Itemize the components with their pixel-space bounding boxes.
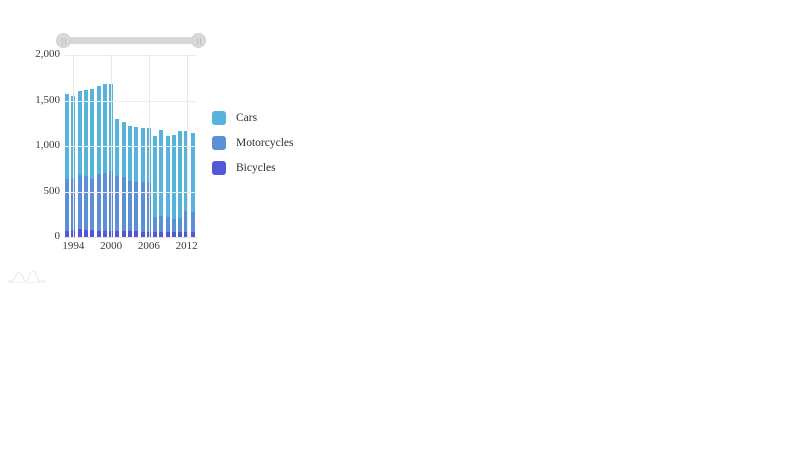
legend-item-cars[interactable]: Cars: [212, 111, 293, 125]
x-axis-tick-label: 2006: [138, 241, 160, 252]
bar-segment-motorcycles[interactable]: [178, 218, 182, 232]
bar-segment-motorcycles[interactable]: [166, 217, 170, 232]
chart-page: 05001,0001,5002,000 1994200020062012 Car…: [0, 0, 800, 450]
bar-segment-motorcycles[interactable]: [65, 179, 69, 231]
x-axis-tick-label: 1994: [62, 241, 84, 252]
y-axis-tick-label: 1,500: [2, 95, 60, 106]
gridline-horizontal: [64, 192, 196, 193]
x-axis-tick-label: 2012: [176, 241, 198, 252]
bar-segment-motorcycles[interactable]: [191, 212, 195, 232]
bar-segment-motorcycles[interactable]: [90, 179, 94, 230]
gridline-horizontal: [64, 55, 196, 56]
bar-segment-cars[interactable]: [103, 84, 107, 173]
legend-label: Motorcycles: [236, 137, 293, 150]
bar-segment-cars[interactable]: [166, 136, 170, 217]
bar-segment-motorcycles[interactable]: [103, 173, 107, 231]
bar-segment-motorcycles[interactable]: [78, 175, 82, 229]
legend-swatch-icon: [212, 111, 226, 125]
legend-label: Cars: [236, 112, 257, 125]
gridline-horizontal: [64, 101, 196, 102]
legend-swatch-icon: [212, 161, 226, 175]
legend-item-bicycles[interactable]: Bicycles: [212, 161, 293, 175]
gridline-vertical: [187, 55, 188, 237]
bar-segment-motorcycles[interactable]: [84, 176, 88, 230]
y-axis-tick-label: 500: [2, 186, 60, 197]
legend-label: Bicycles: [236, 162, 276, 175]
bar-segment-bicycles[interactable]: [90, 230, 94, 237]
gridline-vertical: [149, 55, 150, 237]
bar-segment-bicycles[interactable]: [78, 229, 82, 237]
legend-item-motorcycles[interactable]: Motorcycles: [212, 136, 293, 150]
y-axis-tick-label: 2,000: [2, 49, 60, 60]
x-axis-line: [64, 237, 197, 238]
y-axis-tick-label: 0: [2, 231, 60, 242]
bar-segment-motorcycles[interactable]: [122, 177, 126, 231]
y-axis-tick-label: 1,000: [2, 140, 60, 151]
bar-segment-cars[interactable]: [141, 128, 145, 182]
bar-segment-cars[interactable]: [128, 126, 132, 181]
bar-segment-bicycles[interactable]: [84, 230, 88, 237]
bar-segment-cars[interactable]: [78, 91, 82, 175]
bar-segment-motorcycles[interactable]: [159, 216, 163, 232]
bar-segment-cars[interactable]: [134, 127, 138, 181]
bar-segment-cars[interactable]: [65, 94, 69, 179]
bar-segment-cars[interactable]: [97, 86, 101, 174]
x-axis-tick-label: 2000: [100, 241, 122, 252]
legend-swatch-icon: [212, 136, 226, 150]
bar-segment-motorcycles[interactable]: [115, 176, 119, 231]
bar-segment-cars[interactable]: [90, 89, 94, 179]
bar-segment-cars[interactable]: [84, 90, 88, 176]
bar-segment-motorcycles[interactable]: [97, 174, 101, 231]
bar-segment-cars[interactable]: [172, 135, 176, 219]
bar-segment-cars[interactable]: [159, 130, 163, 216]
gridline-vertical: [73, 55, 74, 237]
gridline-vertical: [111, 55, 112, 237]
y-axis-labels: 05001,0001,5002,000: [0, 0, 60, 265]
bar-segment-motorcycles[interactable]: [134, 182, 138, 232]
bar-segment-motorcycles[interactable]: [141, 182, 145, 232]
bar-segment-cars[interactable]: [122, 122, 126, 177]
bar-segment-cars[interactable]: [178, 131, 182, 218]
bar-segment-cars[interactable]: [115, 119, 119, 176]
bar-segment-motorcycles[interactable]: [153, 217, 157, 232]
chart-legend: CarsMotorcyclesBicycles: [212, 111, 293, 186]
sparkline-watermark: [8, 266, 46, 284]
gridline-horizontal: [64, 146, 196, 147]
plot-area: [64, 55, 196, 237]
x-axis-labels: 1994200020062012: [64, 241, 204, 257]
bar-segment-motorcycles[interactable]: [128, 181, 132, 232]
bar-segment-cars[interactable]: [153, 136, 157, 217]
bar-segment-motorcycles[interactable]: [172, 219, 176, 232]
